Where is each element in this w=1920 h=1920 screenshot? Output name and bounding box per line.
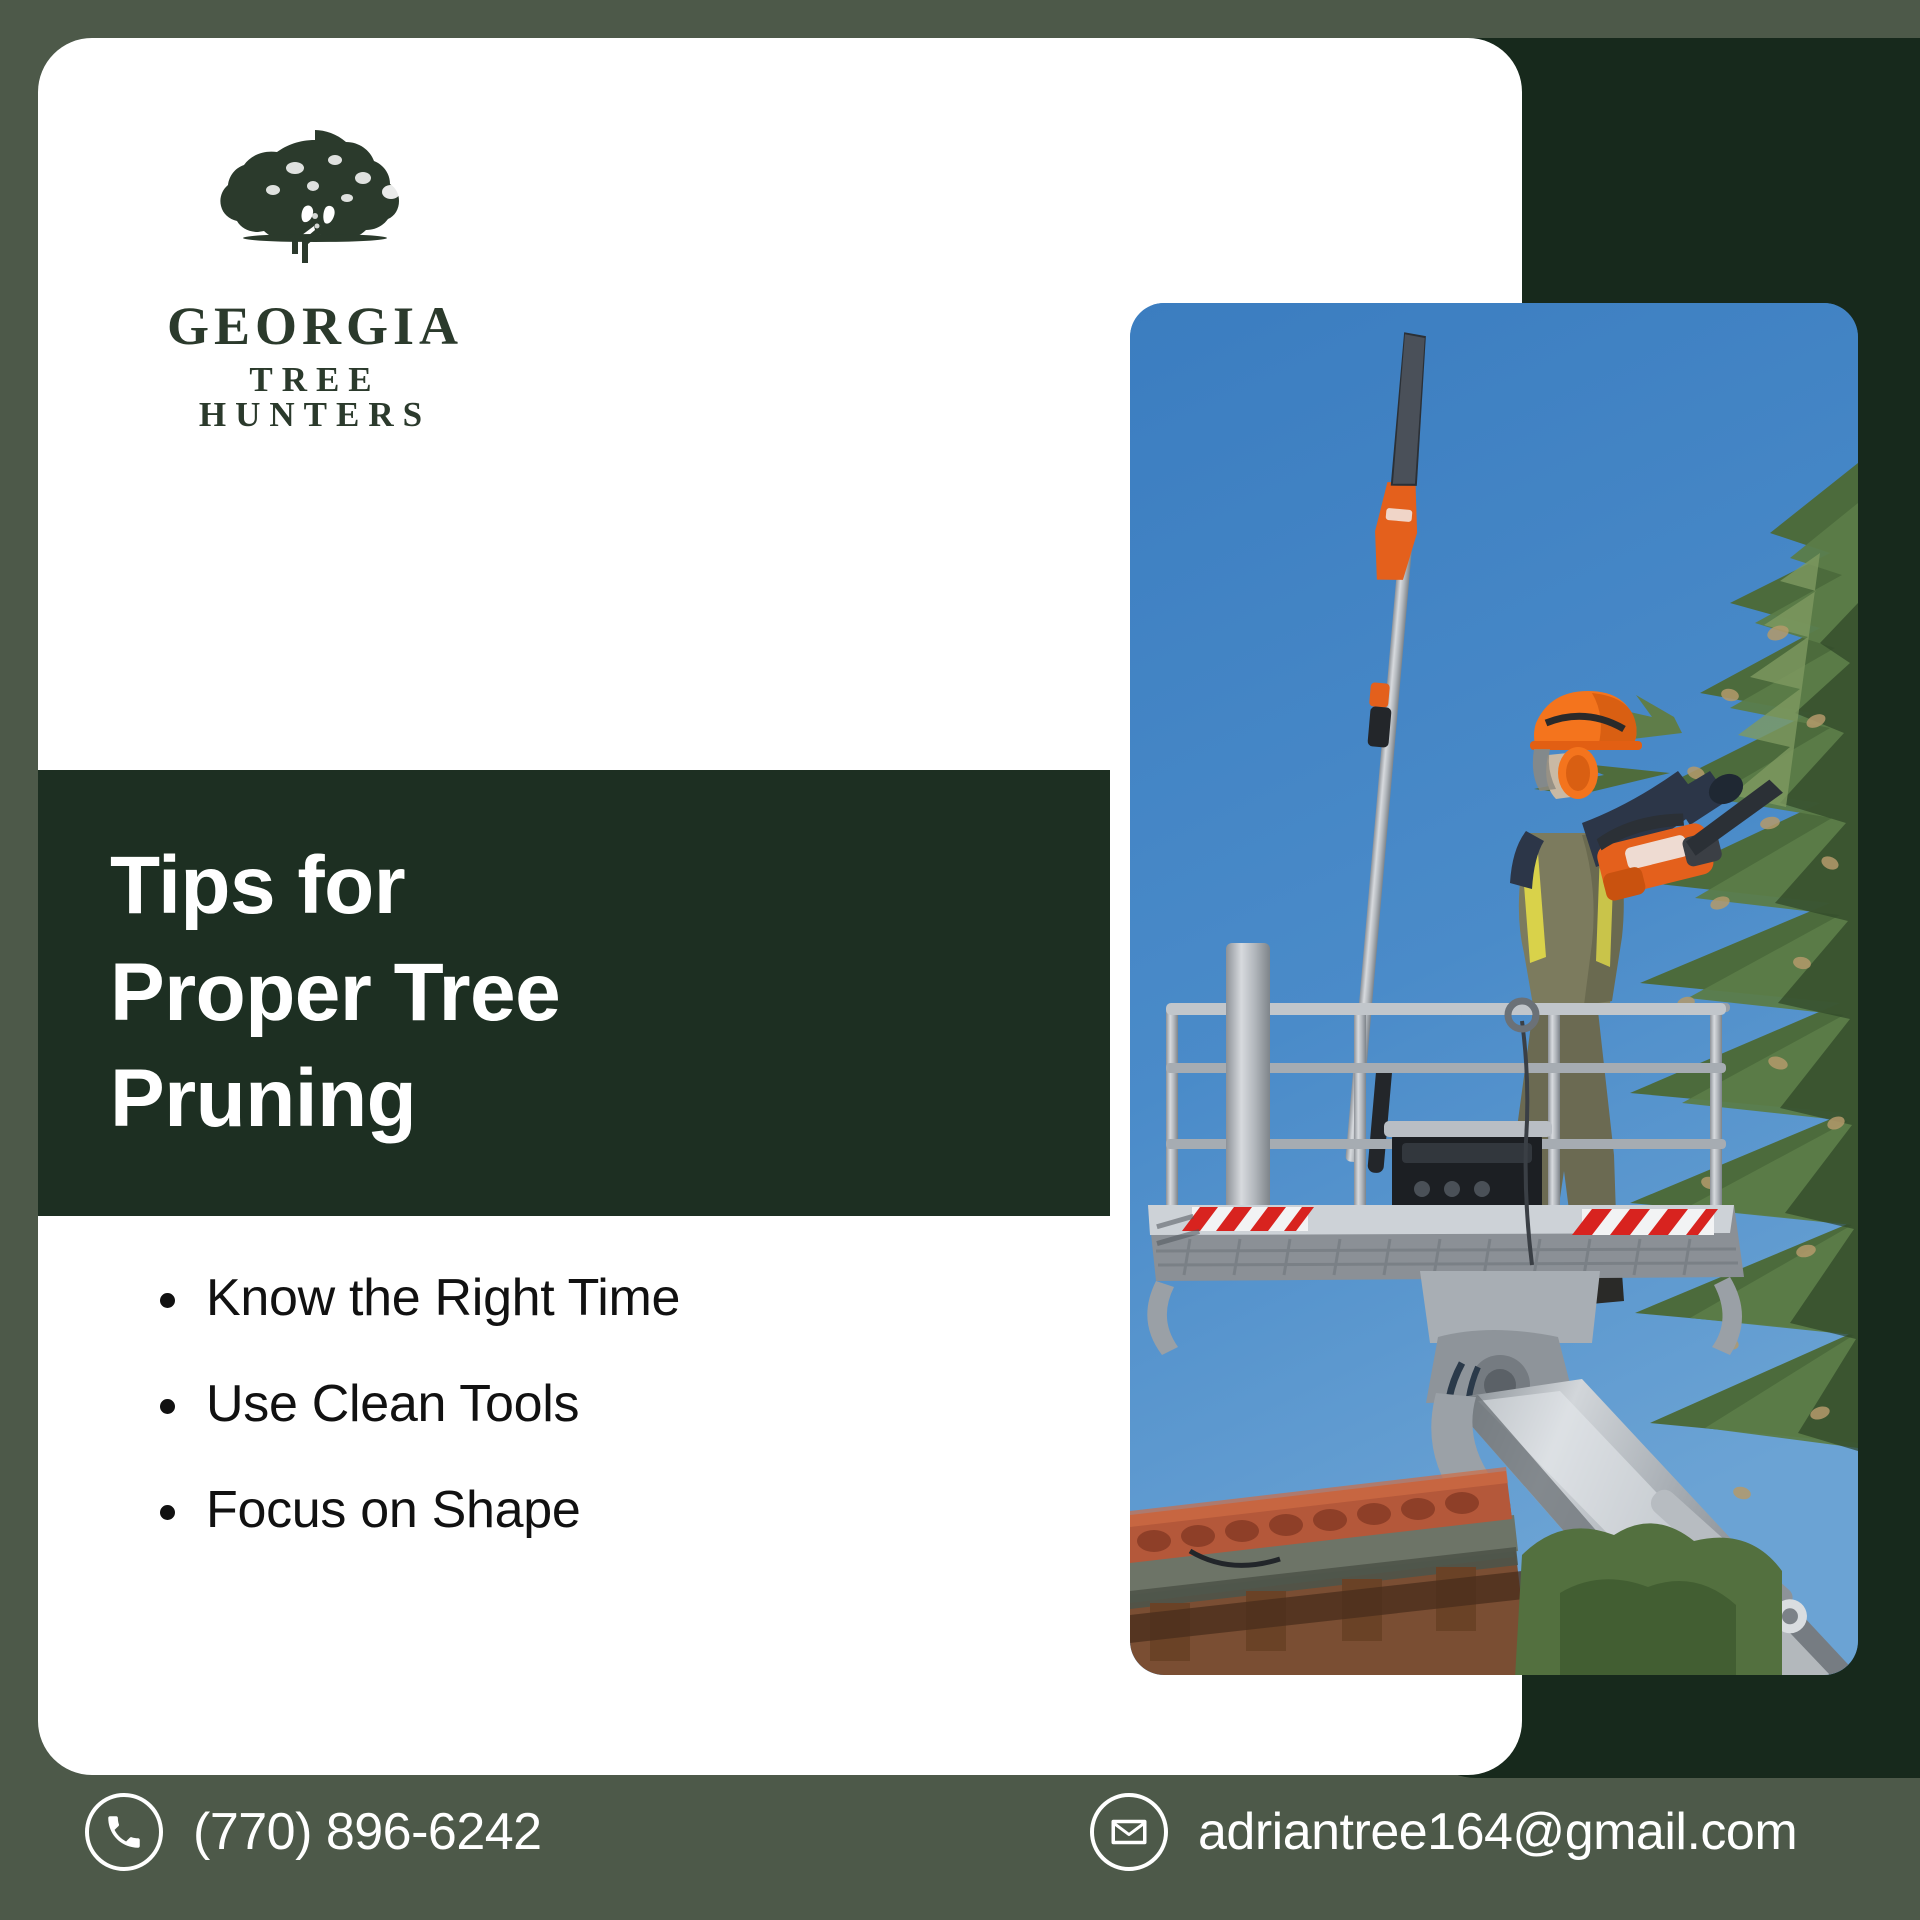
oak-tree-icon [195, 120, 435, 295]
brand-logo: GEORGIA TREE HUNTERS [150, 120, 480, 432]
tip-label: Know the Right Time [206, 1269, 680, 1327]
footer-contact-bar: (770) 896-6242 adriantree164@gmail.com [0, 1775, 1920, 1920]
brand-name-line2: TREE HUNTERS [150, 362, 480, 432]
tips-list: Know the Right Time Use Clean Tools Focu… [150, 1272, 980, 1590]
tree-pruning-photo [1130, 303, 1858, 1675]
envelope-icon [1090, 1793, 1168, 1871]
hero-photo [1130, 303, 1858, 1675]
tip-label: Focus on Shape [206, 1481, 581, 1539]
contact-email[interactable]: adriantree164@gmail.com [1090, 1793, 1797, 1871]
tip-label: Use Clean Tools [206, 1375, 579, 1433]
headline-line-2: Proper Tree [110, 940, 1070, 1047]
list-item: Know the Right Time [150, 1272, 980, 1324]
headline-line-3: Pruning [110, 1046, 1070, 1153]
list-item: Focus on Shape [150, 1484, 980, 1536]
headline-line-1: Tips for [110, 833, 1070, 940]
phone-number: (770) 896-6242 [193, 1802, 542, 1862]
headline-band: Tips for Proper Tree Pruning [38, 770, 1110, 1216]
contact-phone[interactable]: (770) 896-6242 [85, 1793, 542, 1871]
page-title: Tips for Proper Tree Pruning [38, 833, 1110, 1153]
phone-icon [85, 1793, 163, 1871]
list-item: Use Clean Tools [150, 1378, 980, 1430]
brand-name-line1: GEORGIA [150, 299, 480, 353]
email-address: adriantree164@gmail.com [1198, 1802, 1797, 1862]
